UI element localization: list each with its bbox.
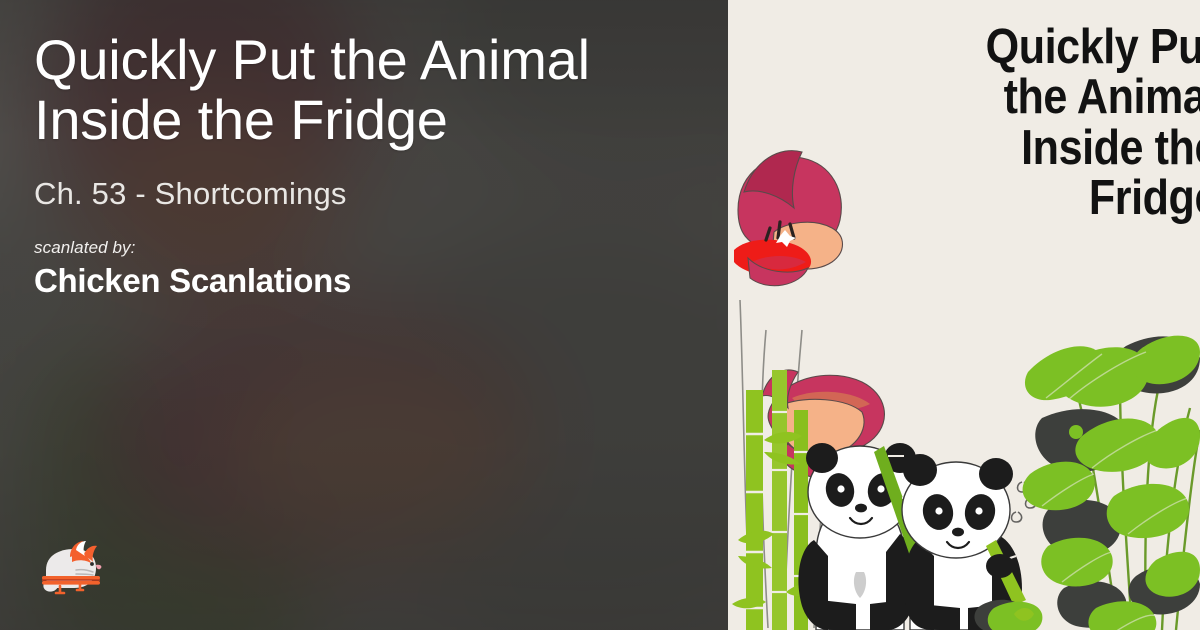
cover-title-line-1: Quickly Put [787,22,1200,72]
info-panel-content: Quickly Put the Animal Inside the Fridge… [0,0,728,630]
scanlated-by-label: scanlated by: [34,238,692,258]
chapter-label: Ch. 53 - Shortcomings [34,176,692,212]
info-panel: Quickly Put the Animal Inside the Fridge… [0,0,728,630]
series-title: Quickly Put the Animal Inside the Fridge [34,30,692,150]
share-card: Quickly Put the Animal Inside the Fridge… [0,0,1200,630]
cover-title-line-2: the Animal [787,72,1200,122]
cover-art-panel: Quickly Put the Animal Inside the Fridge [728,0,1200,630]
scanlation-group-name: Chicken Scanlations [34,262,692,300]
cover-title: Quickly Put the Animal Inside the Fridge [787,22,1200,224]
chicken-logo-icon [36,540,110,602]
cover-title-line-3: Inside the [787,123,1200,173]
cover-title-line-4: Fridge [787,173,1200,223]
